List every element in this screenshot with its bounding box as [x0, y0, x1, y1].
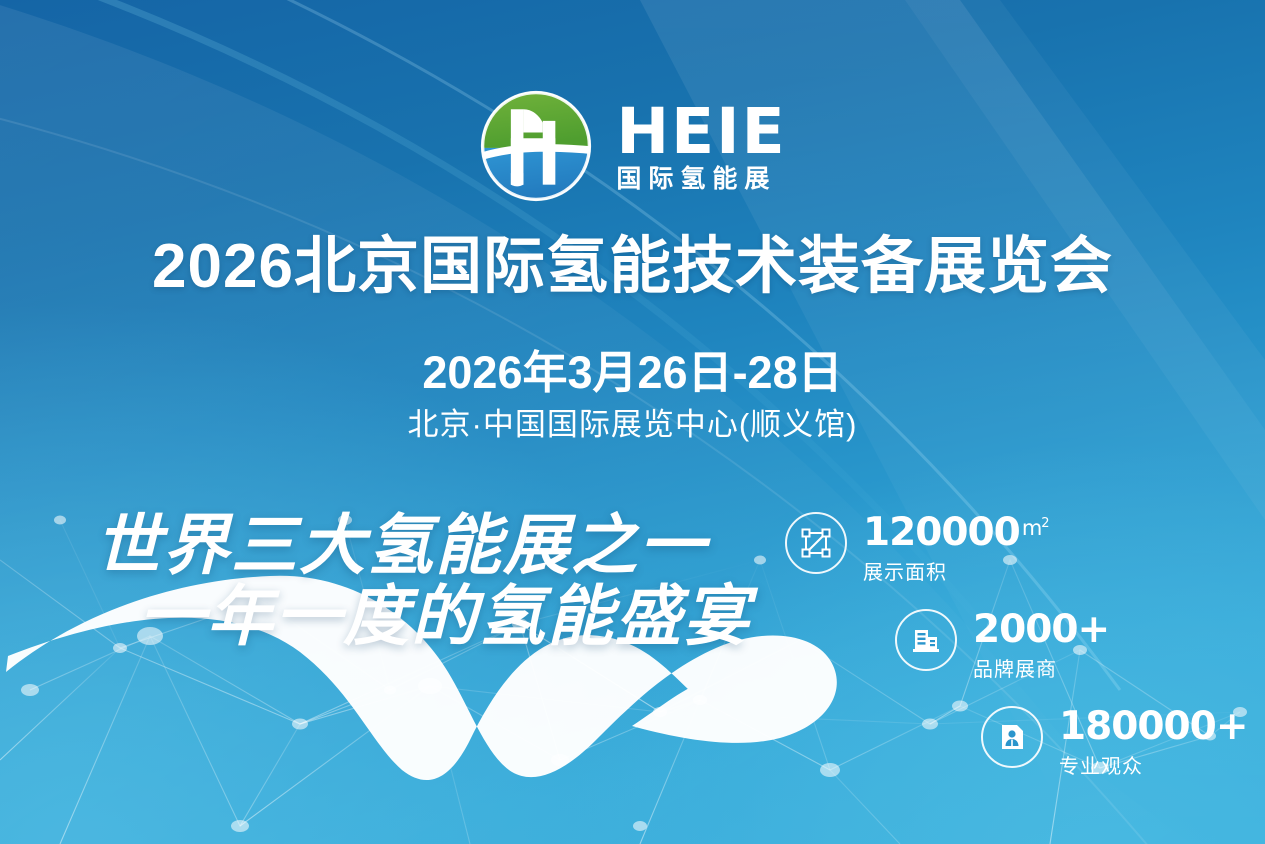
- stat-label-area: 展示面积: [863, 556, 1049, 585]
- building-icon: [895, 609, 957, 671]
- wordmark-group: HEIE 国际氢能展: [616, 102, 786, 192]
- stat-text-area: 120000 m2 展示面积: [863, 512, 1049, 585]
- stat-value-area: 120000: [863, 513, 1020, 552]
- stat-value-row: 2000+: [973, 610, 1109, 649]
- stat-value-exhibitors: 2000+: [973, 610, 1109, 649]
- stat-value-row: 180000+: [1059, 707, 1248, 746]
- stats-group: 120000 m2 展示面积: [785, 512, 1255, 803]
- event-date: 2026年3月26日-28日: [0, 348, 1265, 398]
- stat-text-visitors: 180000+ 专业观众: [1059, 706, 1248, 779]
- brand-logo-block: HEIE 国际氢能展: [0, 88, 1265, 204]
- stat-label-exhibitors: 品牌展商: [973, 653, 1109, 682]
- stat-value-visitors: 180000+: [1059, 707, 1248, 746]
- heie-circle-h-logo-icon: [478, 88, 594, 204]
- slogan: 世界三大氢能展之一 一年一度的氢能盛宴: [95, 512, 775, 651]
- slogan-line-2: 一年一度的氢能盛宴: [139, 583, 775, 650]
- stat-value-row: 120000 m2: [863, 513, 1049, 552]
- slogan-line-1: 世界三大氢能展之一: [95, 512, 775, 579]
- page-title: 2026北京国际氢能技术装备展览会: [0, 234, 1265, 301]
- stat-item-visitors: 180000+ 专业观众: [981, 706, 1255, 779]
- stat-label-visitors: 专业观众: [1059, 750, 1248, 779]
- stat-text-exhibitors: 2000+ 品牌展商: [973, 609, 1109, 682]
- event-venue: 北京·中国国际展览中心(顺义馆): [0, 406, 1265, 443]
- poster-canvas: HEIE 国际氢能展 2026北京国际氢能技术装备展览会 2026年3月26日-…: [0, 0, 1265, 844]
- stat-unit-area: m2: [1022, 517, 1049, 539]
- area-measure-icon: [785, 512, 847, 574]
- visitor-badge-icon: [981, 706, 1043, 768]
- stat-item-area: 120000 m2 展示面积: [785, 512, 1255, 585]
- wordmark-chinese: 国际氢能展: [616, 167, 786, 192]
- stat-item-exhibitors: 2000+ 品牌展商: [895, 609, 1255, 682]
- wordmark-heie: HEIE: [616, 102, 786, 162]
